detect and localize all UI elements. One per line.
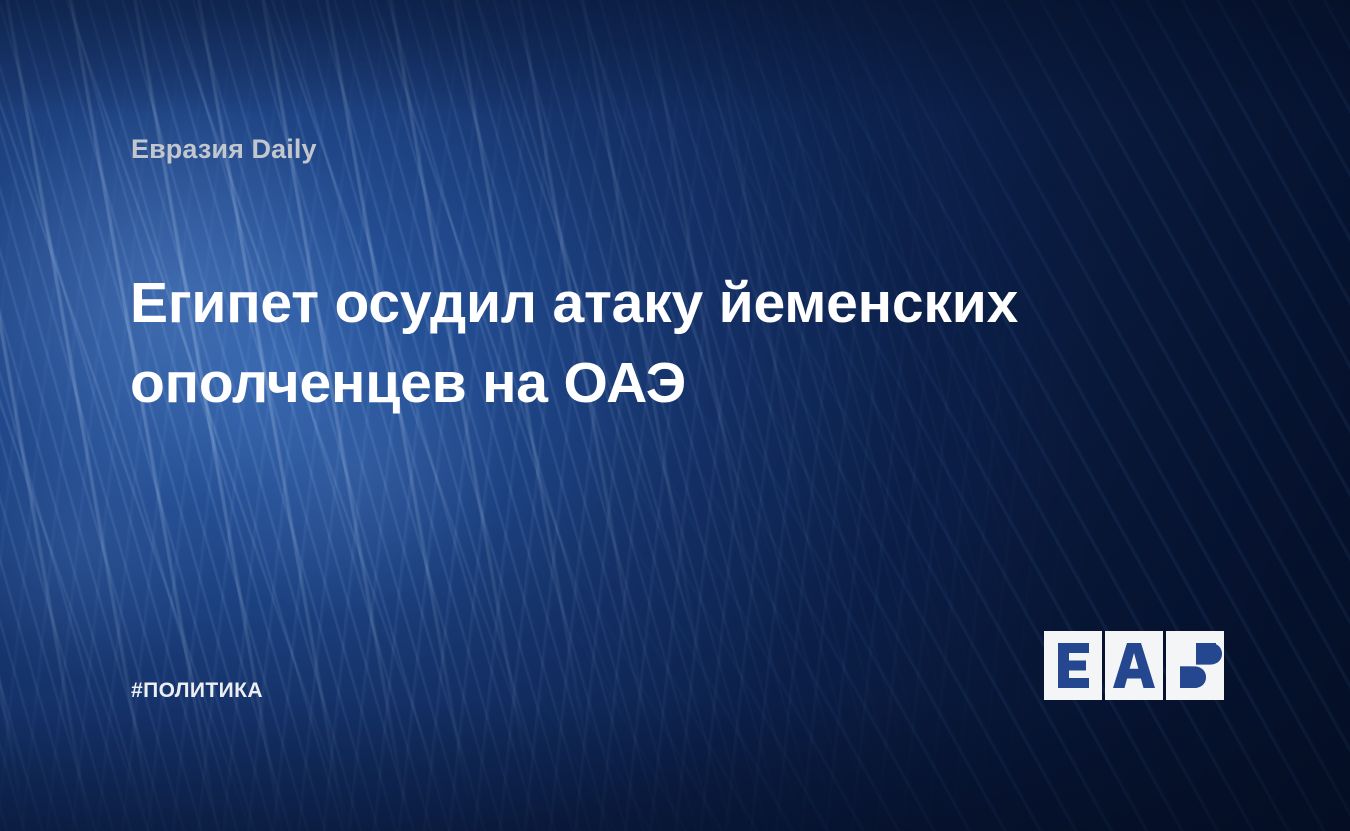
ead-logo-tile-e <box>1044 631 1102 700</box>
article-share-card: Евразия Daily Египет осудил атаку йеменс… <box>0 0 1350 831</box>
card-content: Евразия Daily Египет осудил атаку йеменс… <box>0 0 1350 831</box>
category-tag: #ПОЛИТИКА <box>131 680 263 701</box>
site-name-wordmark: Евразия Daily <box>131 136 317 163</box>
article-headline: Египет осудил атаку йеменских ополченцев… <box>130 264 1030 424</box>
ead-logo-mark <box>1044 631 1224 700</box>
ead-logo-tile-a <box>1105 631 1163 700</box>
ead-logo-tile-d <box>1166 631 1224 700</box>
